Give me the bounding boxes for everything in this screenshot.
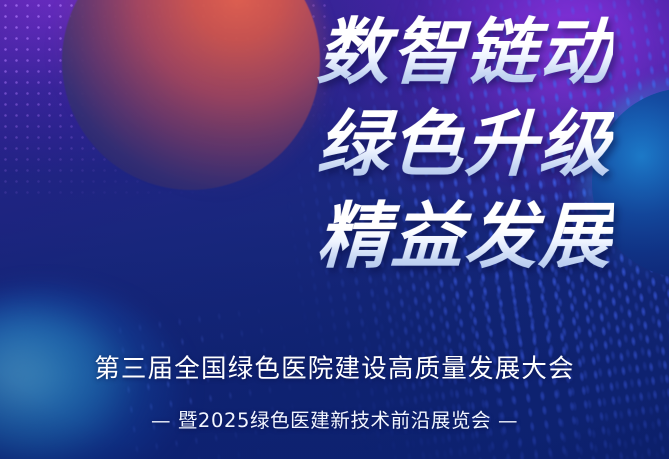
exhibition-subtitle: — 暨2025绿色医建新技术前沿展览会 — [0,408,669,434]
conference-poster: 数智链动 绿色升级 精益发展 第三届全国绿色医院建设高质量发展大会 — 暨202… [0,0,669,459]
headline-line-3: 精益发展 [0,190,615,282]
headline-block: 数智链动 绿色升级 精益发展 [0,6,613,282]
subtitle-block: 第三届全国绿色医院建设高质量发展大会 — 暨2025绿色医建新技术前沿展览会 — [0,352,669,434]
headline-line-2: 绿色升级 [0,98,615,190]
headline-line-1: 数智链动 [0,6,615,98]
conference-title: 第三届全国绿色医院建设高质量发展大会 [0,352,669,386]
